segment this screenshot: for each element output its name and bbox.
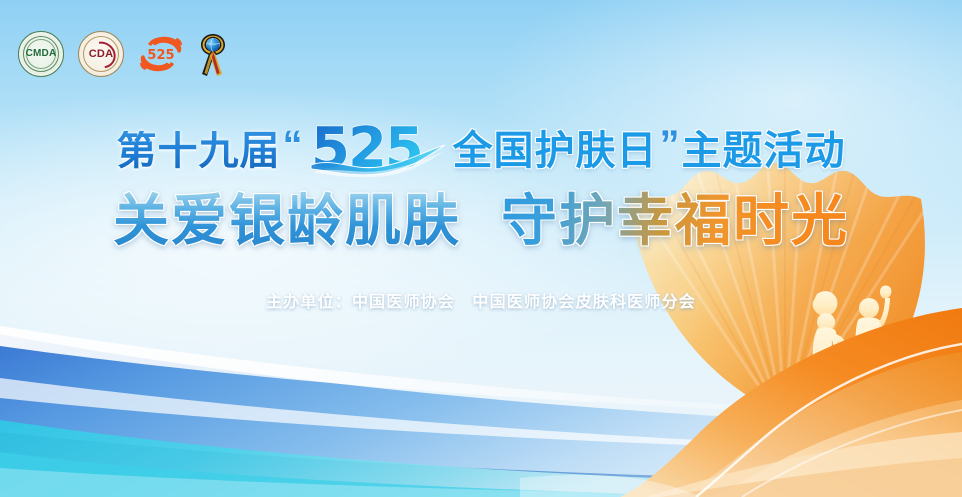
skin-care-day-525-logo: 525 — [138, 31, 184, 77]
cmda-label: CMDA — [26, 49, 57, 59]
cmda-logo: CMDA — [18, 31, 64, 77]
logo-row: CMDA CDA — [18, 31, 228, 77]
title-prefix: 第十九届 — [117, 131, 281, 171]
slogan-right: 守护幸福时光 — [501, 190, 849, 253]
title-suffix: 全国护肤日 — [453, 131, 658, 171]
promo-banner: CMDA CDA — [0, 0, 962, 497]
organizer-text: 主办单位：中国医师协会 中国医师协会皮肤科医师分会 — [266, 292, 696, 311]
slogan-left: 关爱银龄肌肤 — [113, 190, 461, 253]
title-open-quote: “ — [281, 125, 305, 165]
slogan-line: 关爱银龄肌肤 守护幸福时光 — [0, 190, 962, 253]
title-tail: 主题活动 — [682, 131, 846, 171]
title-525-graphic: 525 — [309, 117, 449, 179]
cda-label: CDA — [89, 49, 113, 60]
title-close-quote: ” — [658, 125, 682, 165]
organizer-line: 主办单位：中国医师协会 中国医师协会皮肤科医师分会 — [0, 288, 962, 312]
cda-logo: CDA — [78, 31, 124, 77]
main-title: 第十九届 “ 525 — [0, 120, 962, 182]
awareness-ribbon-logo — [198, 31, 228, 77]
logo-525-number: 525 — [147, 48, 174, 63]
wave-ribbons-decoration — [0, 282, 962, 497]
